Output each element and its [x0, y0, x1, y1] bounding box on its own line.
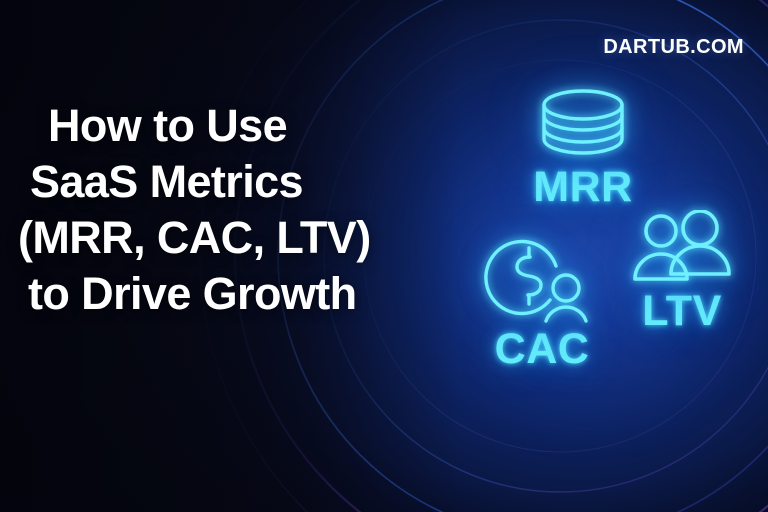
- title-line-2: SaaS Metrics: [18, 154, 428, 210]
- metric-mrr: MRR: [498, 88, 668, 209]
- metric-ltv: LTV: [612, 210, 752, 333]
- two-people-icon: [627, 210, 737, 286]
- social-graphic-canvas: DARTUB.COM How to Use SaaS Metrics (MRR,…: [0, 0, 768, 512]
- metric-ltv-label: LTV: [612, 290, 752, 333]
- page-title: How to Use SaaS Metrics (MRR, CAC, LTV) …: [18, 98, 428, 322]
- title-line-3: (MRR, CAC, LTV): [18, 210, 428, 266]
- title-line-1: How to Use: [18, 98, 428, 154]
- brand-watermark: DARTUB.COM: [603, 36, 744, 59]
- metric-cac-label: CAC: [462, 328, 622, 371]
- title-line-4: to Drive Growth: [18, 266, 428, 322]
- database-icon: [536, 88, 630, 156]
- metric-mrr-label: MRR: [498, 166, 668, 209]
- metric-cac: CAC: [462, 226, 622, 371]
- dollar-circle-person-icon: [484, 226, 600, 324]
